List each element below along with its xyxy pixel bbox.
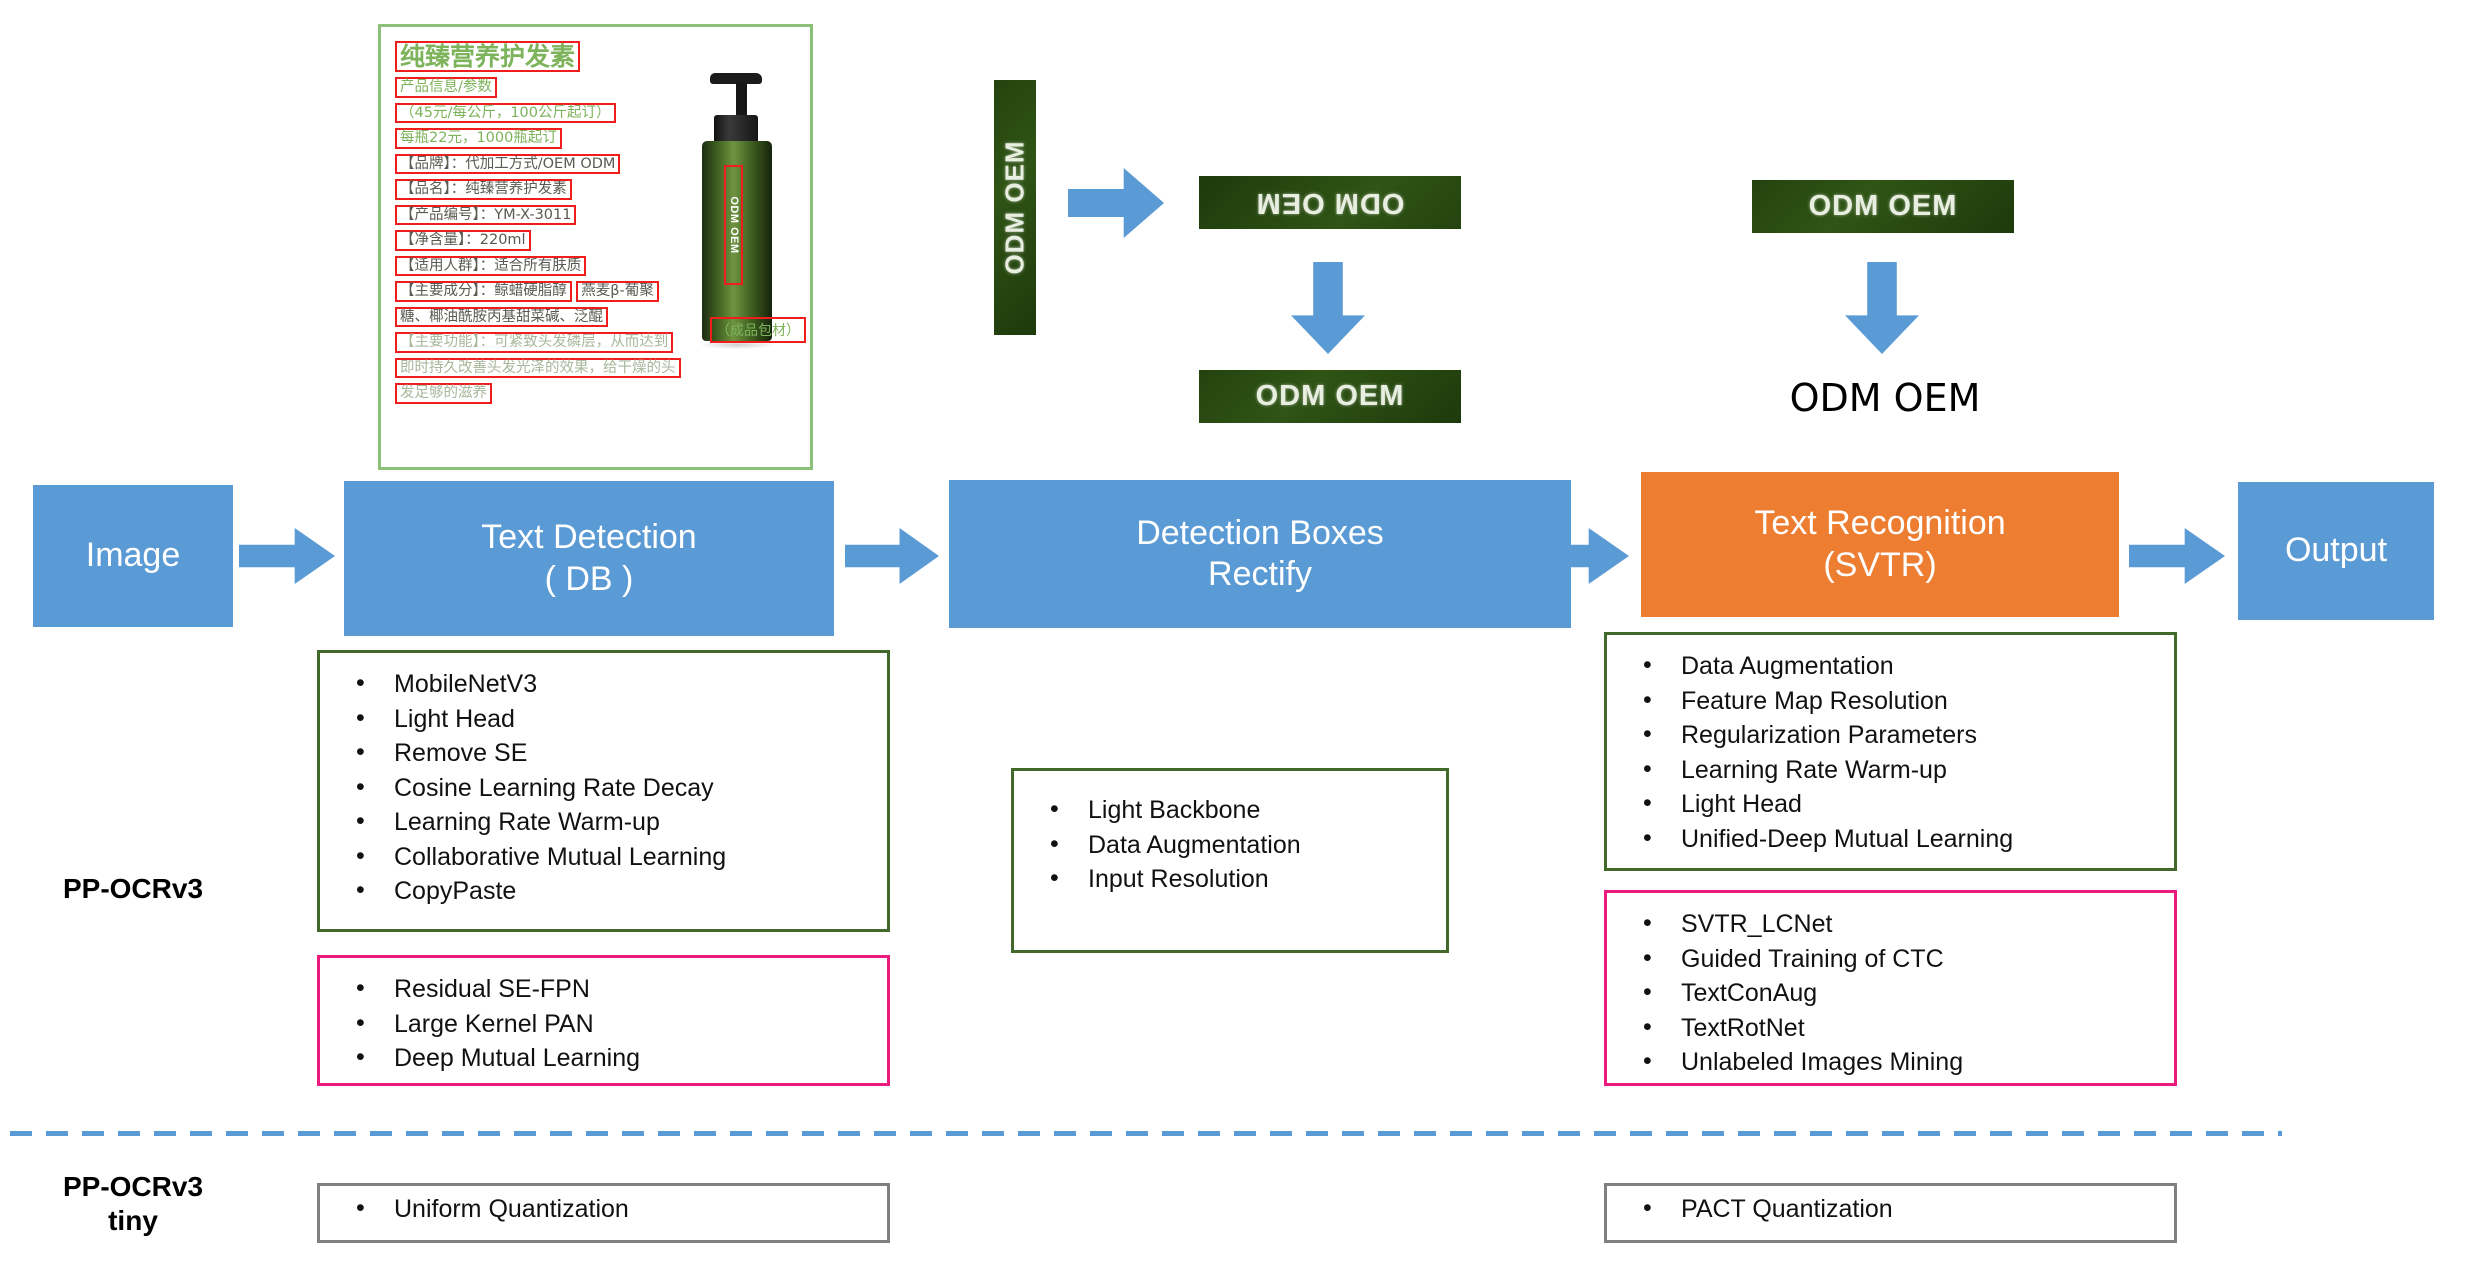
list-item: Deep Mutual Learning [346,1041,877,1076]
pipeline-stage-output-label: Output [2285,530,2387,571]
detected-text-box: 发足够的滋养 [395,383,492,404]
pipeline-stage-text-recognition[interactable]: Text Recognition (SVTR) [1641,472,2119,617]
tiny-left-list: Uniform Quantization [346,1192,877,1227]
detected-text-box: 【主要功能】：可紧致头发磷层，从而达到 [395,332,673,353]
detected-text-box: 每瓶22元，1000瓶起订 [395,128,562,149]
detected-text-box: 即时持久改善头发光泽的效果，给干燥的头 [395,358,681,379]
list-item: Uniform Quantization [346,1192,877,1227]
list-item: Light Head [346,702,877,737]
tiny-detection-quantization-box: Uniform Quantization [317,1183,890,1243]
row-label-tiny-line2: tiny [18,1204,248,1238]
row-label-ppocrv3: PP-OCRv3 [18,872,248,906]
tiny-recognition-quantization-box: PACT Quantization [1604,1183,2177,1243]
arrow-down-icon [1291,262,1365,354]
product-bottle-photo: ODM OEM [674,73,794,393]
recognition-green-list: Data Augmentation Feature Map Resolution… [1633,649,2164,856]
list-item: MobileNetV3 [346,667,877,702]
pipeline-stage-recognition-label: Text Recognition (SVTR) [1754,503,2005,586]
list-item: PACT Quantization [1633,1192,2164,1227]
arrow-right-icon [845,528,939,584]
text-detection-sample-image: 纯臻营养护发素 产品信息/参数 （45元/每公斤，100公斤起订） 每瓶22元，… [378,24,813,470]
rectify-subtitle: Rectify [1208,555,1312,593]
sample-image-content: 纯臻营养护发素 产品信息/参数 （45元/每公斤，100公斤起订） 每瓶22元，… [381,27,810,467]
pipeline-stage-image-label: Image [86,535,181,576]
rectify-strategies-green-box: Light Backbone Data Augmentation Input R… [1011,768,1449,953]
arrow-right-icon [1068,168,1164,238]
row-label-ppocrv3-tiny: PP-OCRv3 tiny [18,1170,248,1237]
tiny-right-list: PACT Quantization [1633,1192,2164,1227]
detection-pink-list: Residual SE-FPN Large Kernel PAN Deep Mu… [346,972,877,1076]
detected-text-box: 【主要成分】：鲸蜡硬脂醇 [395,281,572,302]
pipeline-stage-text-detection[interactable]: Text Detection ( DB ) [344,481,834,636]
detected-text-box: 糖、椰油酰胺丙基甜菜碱、泛醌 [395,307,608,328]
recognition-subtitle: (SVTR) [1823,546,1936,584]
list-item: Unlabeled Images Mining [1633,1045,2164,1080]
list-item: Light Backbone [1040,793,1436,828]
detected-text-box: 产品信息/参数 [395,77,497,98]
cropped-flipped-text-image: ODM OEM [1199,176,1461,229]
list-item: Feature Map Resolution [1633,684,2164,719]
list-item: Large Kernel PAN [346,1007,877,1042]
list-item: Learning Rate Warm-up [346,805,877,840]
detected-text-box: 【净含量】：220ml [395,230,531,251]
list-item: Light Head [1633,787,2164,822]
list-item: Regularization Parameters [1633,718,2164,753]
pipeline-stage-rectify[interactable]: Detection Boxes Rectify [949,480,1571,628]
list-item: Data Augmentation [1633,649,2164,684]
recognition-pink-list: SVTR_LCNet Guided Training of CTC TextCo… [1633,907,2164,1080]
pipeline-stage-rectify-label: Detection Boxes Rectify [1136,513,1384,596]
list-item: Remove SE [346,736,877,771]
detection-line: 纯臻营养护发素 [395,41,800,72]
list-item: Cosine Learning Rate Decay [346,771,877,806]
list-item: Data Augmentation [1040,828,1436,863]
bottle-label-text: ODM OEM [728,196,740,253]
recognition-strategies-pink-box: SVTR_LCNet Guided Training of CTC TextCo… [1604,890,2177,1086]
list-item: Collaborative Mutual Learning [346,840,877,875]
pipeline-stage-output[interactable]: Output [2238,482,2434,620]
list-item: CopyPaste [346,874,877,909]
list-item: TextConAug [1633,976,2164,1011]
detection-green-list: MobileNetV3 Light Head Remove SE Cosine … [346,667,877,909]
list-item: SVTR_LCNet [1633,907,2164,942]
recognized-output-text: ODM OEM [1720,370,2050,426]
list-item: Unified-Deep Mutual Learning [1633,822,2164,857]
crop-vertical-text: ODM OEM [1000,140,1031,274]
list-item: Residual SE-FPN [346,972,877,1007]
rectify-green-list: Light Backbone Data Augmentation Input R… [1040,793,1436,897]
detected-text-box: 【品牌】：代加工方式/OEM ODM [395,154,620,175]
row-label-tiny-line1: PP-OCRv3 [18,1170,248,1204]
detected-text-box: 燕麦β-葡聚 [576,281,659,302]
arrow-right-icon [239,528,335,584]
detected-text-box: 【适用人群】：适合所有肤质 [395,256,586,277]
detection-title: Text Detection [481,518,696,556]
pipeline-stage-image[interactable]: Image [33,485,233,627]
section-divider-dashed [10,1131,2282,1136]
list-item: Input Resolution [1040,862,1436,897]
cropped-rectified-text-image: ODM OEM [1199,370,1461,423]
pipeline-stage-detection-label: Text Detection ( DB ) [481,517,696,600]
detected-text-box: 【产品编号】：YM-X-3011 [395,205,576,226]
bottle-collar [714,115,758,143]
detected-text-box: 纯臻营养护发素 [395,41,580,72]
detected-text-box: （45元/每公斤，100公斤起订） [395,103,616,124]
arrow-down-icon [1845,262,1919,354]
arrow-right-icon [2129,528,2225,584]
bottle-neck [736,82,747,118]
rectify-title: Detection Boxes [1136,514,1384,552]
recognition-input-crop-image: ODM OEM [1752,180,2014,233]
detection-strategies-green-box: MobileNetV3 Light Head Remove SE Cosine … [317,650,890,932]
list-item: Learning Rate Warm-up [1633,753,2164,788]
detection-subtitle: ( DB ) [545,560,634,598]
detected-text-box: 【品名】：纯臻营养护发素 [395,179,572,200]
recognition-title: Text Recognition [1754,504,2005,542]
detected-text-box-bottle: ODM OEM [724,165,743,285]
list-item: Guided Training of CTC [1633,942,2164,977]
list-item: TextRotNet [1633,1011,2164,1046]
cropped-vertical-text-image: ODM OEM [994,80,1036,335]
recognition-strategies-green-box: Data Augmentation Feature Map Resolution… [1604,632,2177,871]
detected-text-box-package: （成品包材） [710,317,806,343]
detection-strategies-pink-box: Residual SE-FPN Large Kernel PAN Deep Mu… [317,955,890,1086]
